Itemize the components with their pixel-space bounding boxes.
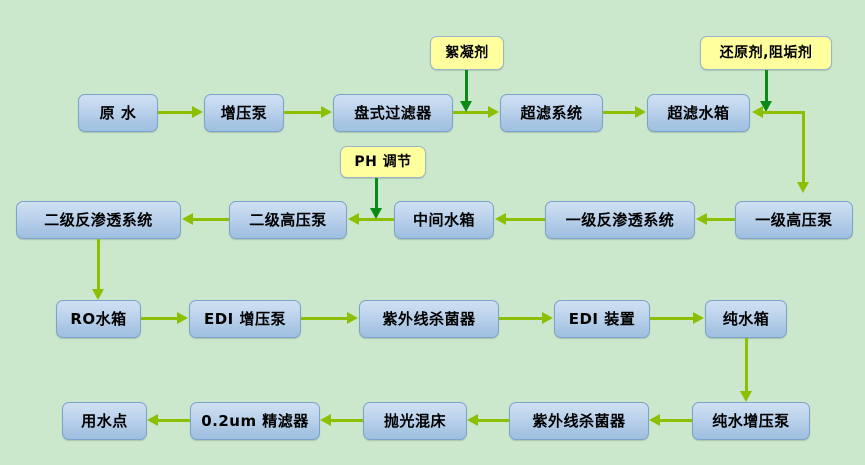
node-label: 0.2um 精滤器 — [201, 414, 309, 429]
node-uv-sterilizer-1[interactable]: 紫外线杀菌器 — [359, 300, 499, 338]
node-pure-booster-pump[interactable]: 纯水增压泵 — [692, 402, 810, 440]
node-label: RO水箱 — [70, 312, 126, 327]
node-flocculant[interactable]: 絮凝剂 — [430, 36, 504, 70]
node-uv-sterilizer-2[interactable]: 紫外线杀菌器 — [509, 402, 649, 440]
node-fine-filter[interactable]: 0.2um 精滤器 — [190, 402, 320, 440]
node-label: 紫外线杀菌器 — [382, 312, 475, 327]
node-label: 抛光混床 — [384, 414, 446, 429]
node-polishing-bed[interactable]: 抛光混床 — [363, 402, 467, 440]
node-hp-pump-2[interactable]: 二级高压泵 — [229, 201, 347, 239]
node-hp-pump-1[interactable]: 一级高压泵 — [735, 201, 853, 239]
node-ro1-system[interactable]: 一级反渗透系统 — [545, 201, 695, 239]
node-label: 盘式过滤器 — [354, 106, 432, 121]
node-label: 紫外线杀菌器 — [532, 414, 625, 429]
node-label: 纯水增压泵 — [712, 414, 790, 429]
flowchart-canvas: 原 水 增压泵 盘式过滤器 超滤系统 超滤水箱 絮凝剂 还原剂,阻垢剂 PH 调… — [0, 0, 865, 465]
node-label: 用水点 — [81, 414, 128, 429]
node-label: 二级高压泵 — [249, 213, 327, 228]
node-label: 絮凝剂 — [445, 46, 489, 60]
node-edi-booster-pump[interactable]: EDI 增压泵 — [189, 300, 301, 338]
node-label: 纯水箱 — [723, 312, 770, 327]
node-pure-water-tank[interactable]: 纯水箱 — [705, 300, 787, 338]
node-label: 超滤系统 — [520, 106, 582, 121]
node-label: 还原剂,阻垢剂 — [720, 46, 813, 60]
node-label: EDI 增压泵 — [204, 312, 286, 327]
node-ro2-system[interactable]: 二级反渗透系统 — [16, 201, 181, 239]
node-booster-pump[interactable]: 增压泵 — [204, 94, 284, 132]
node-raw-water[interactable]: 原 水 — [78, 94, 158, 132]
node-ro-tank[interactable]: RO水箱 — [56, 300, 141, 338]
node-uf-tank[interactable]: 超滤水箱 — [647, 94, 750, 132]
node-intermediate-tank[interactable]: 中间水箱 — [394, 201, 494, 239]
node-label: EDI 装置 — [569, 312, 636, 327]
node-uf-system[interactable]: 超滤系统 — [500, 94, 603, 132]
node-label: 一级高压泵 — [755, 213, 833, 228]
node-label: 增压泵 — [221, 106, 268, 121]
node-disc-filter[interactable]: 盘式过滤器 — [333, 94, 453, 132]
node-label: 一级反渗透系统 — [566, 213, 675, 228]
node-label: 中间水箱 — [413, 213, 475, 228]
node-point-of-use[interactable]: 用水点 — [62, 402, 147, 440]
node-label: 二级反渗透系统 — [44, 213, 153, 228]
node-label: PH 调节 — [354, 155, 411, 169]
node-edi-unit[interactable]: EDI 装置 — [554, 300, 650, 338]
node-reducer-antiscalant[interactable]: 还原剂,阻垢剂 — [700, 36, 832, 70]
node-label: 原 水 — [100, 106, 137, 121]
node-label: 超滤水箱 — [667, 106, 729, 121]
node-ph-adjustment[interactable]: PH 调节 — [340, 146, 426, 178]
